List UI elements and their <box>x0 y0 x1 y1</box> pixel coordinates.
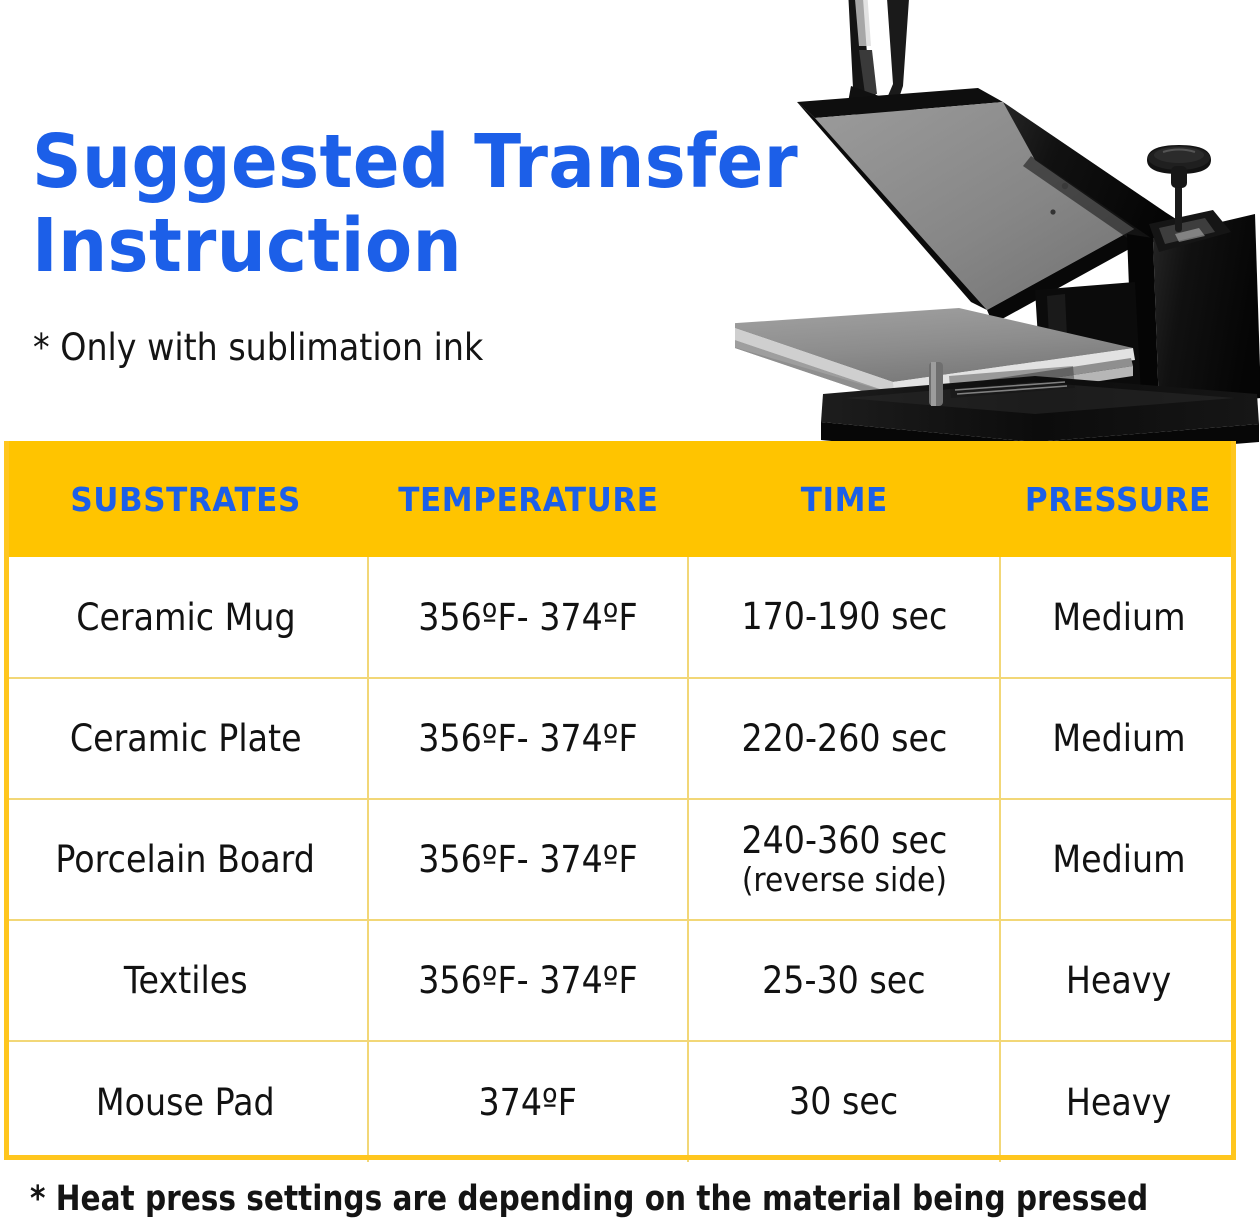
table-row: Porcelain Board 356ºF- 374ºF 240-360 sec… <box>4 799 1236 920</box>
table-header: SUBSTRATES TEMPERATURE TIME PRESSURE <box>4 441 1236 557</box>
column-header-time: TIME <box>688 441 1000 557</box>
cell-temperature: 356ºF- 374ºF <box>368 557 688 678</box>
sublimation-ink-note: * Only with sublimation ink <box>33 326 483 370</box>
cell-pressure: Heavy <box>1000 1041 1236 1162</box>
cell-time: 30 sec <box>688 1041 1000 1162</box>
cell-pressure: Medium <box>1000 557 1236 678</box>
cell-temperature: 374ºF <box>368 1041 688 1162</box>
transfer-settings-table-wrapper: SUBSTRATES TEMPERATURE TIME PRESSURE Cer… <box>4 441 1236 1162</box>
table-row: Textiles 356ºF- 374ºF 25-30 sec Heavy <box>4 920 1236 1041</box>
cell-temperature: 356ºF- 374ºF <box>368 799 688 920</box>
heat-press-settings-footnote: * Heat press settings are depending on t… <box>30 1178 1148 1220</box>
cell-substrate: Ceramic Plate <box>4 678 368 799</box>
column-header-substrates: SUBSTRATES <box>4 441 368 557</box>
transfer-settings-table: SUBSTRATES TEMPERATURE TIME PRESSURE Cer… <box>4 441 1236 1162</box>
cell-time: 25-30 sec <box>688 920 1000 1041</box>
table-row: Ceramic Plate 356ºF- 374ºF 220-260 sec M… <box>4 678 1236 799</box>
cell-pressure: Medium <box>1000 799 1236 920</box>
cell-substrate: Porcelain Board <box>4 799 368 920</box>
column-header-temperature-label: TEMPERATURE <box>398 480 658 519</box>
page-title: Suggested Transfer Instruction <box>32 120 842 288</box>
table-body: Ceramic Mug 356ºF- 374ºF 170-190 sec Med… <box>4 557 1236 1162</box>
page-title-line-2: Instruction <box>32 204 785 288</box>
cell-pressure: Heavy <box>1000 920 1236 1041</box>
cell-time: 170-190 sec <box>688 557 1000 678</box>
transfer-instruction-infographic: Suggested Transfer Instruction * Only wi… <box>0 0 1260 1226</box>
machine-right-housing <box>1127 210 1260 408</box>
table-row: Ceramic Mug 356ºF- 374ºF 170-190 sec Med… <box>4 557 1236 678</box>
column-header-pressure-label: PRESSURE <box>1025 480 1211 519</box>
page-title-line-1: Suggested Transfer <box>32 120 785 204</box>
column-header-pressure: PRESSURE <box>1000 441 1236 557</box>
column-header-time-label: TIME <box>800 480 887 519</box>
cell-temperature: 356ºF- 374ºF <box>368 920 688 1041</box>
cell-time: 240-360 sec(reverse side) <box>688 799 1000 920</box>
cell-pressure: Medium <box>1000 678 1236 799</box>
cell-time-note: (reverse side) <box>741 861 947 899</box>
table-header-row: SUBSTRATES TEMPERATURE TIME PRESSURE <box>4 441 1236 557</box>
cell-substrate: Textiles <box>4 920 368 1041</box>
cell-temperature: 356ºF- 374ºF <box>368 678 688 799</box>
cell-substrate: Ceramic Mug <box>4 557 368 678</box>
column-header-substrates-label: SUBSTRATES <box>71 480 301 519</box>
heat-press-illustration <box>735 0 1260 460</box>
table-row: Mouse Pad 374ºF 30 sec Heavy <box>4 1041 1236 1162</box>
cell-substrate: Mouse Pad <box>4 1041 368 1162</box>
cell-time: 220-260 sec <box>688 678 1000 799</box>
column-header-temperature: TEMPERATURE <box>368 441 688 557</box>
